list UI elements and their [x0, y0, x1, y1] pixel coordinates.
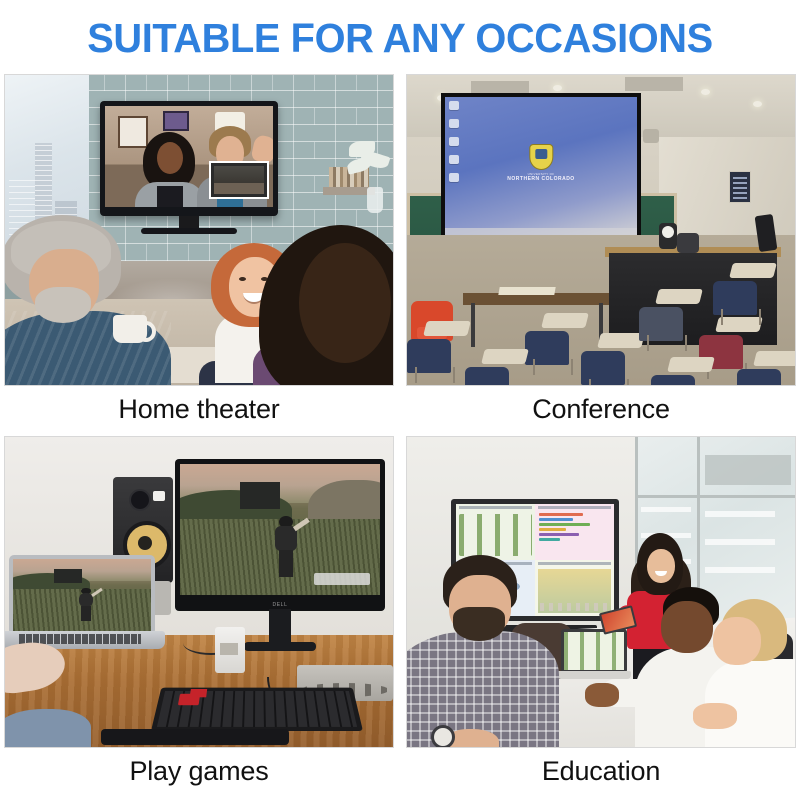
tv-screen [105, 106, 273, 207]
gaming-desk-scene: DELL [5, 437, 393, 747]
photo-play-games: DELL [4, 436, 394, 748]
ceiling-light [701, 89, 710, 95]
student-desk [713, 263, 783, 325]
desk-top [667, 357, 715, 372]
desk-top [753, 351, 795, 366]
desktop-icon [449, 137, 459, 146]
attendee-far-right [711, 599, 795, 747]
laptop-lid [561, 629, 627, 673]
mother [239, 225, 394, 386]
desktop-icon [449, 101, 459, 110]
marketing-collage: SUITABLE FOR ANY OCCASIONS [0, 0, 800, 800]
scene-card-play-games[interactable]: DELL [4, 436, 394, 794]
figure-chart [459, 514, 532, 556]
game-building [54, 569, 82, 583]
wasd-keys [178, 694, 200, 705]
caption-conference: Conference [406, 386, 796, 432]
av-equipment [659, 223, 677, 249]
caption-home-theater: Home theater [4, 386, 394, 432]
wall-speaker [643, 129, 659, 143]
father [4, 215, 175, 386]
photo-home-theater [4, 74, 394, 386]
game-screen [180, 464, 380, 595]
desktop-icon [449, 155, 459, 164]
game-character [76, 588, 95, 621]
desk-legs [647, 335, 687, 351]
desk-seat [651, 375, 695, 385]
mechanical-keyboard [151, 688, 363, 731]
game-building [240, 482, 280, 508]
infographic-panel-figures [456, 504, 535, 560]
av-equipment [677, 233, 699, 253]
scene-card-education[interactable]: Education [406, 436, 796, 794]
leaf-icon [346, 156, 372, 174]
hand [585, 683, 619, 707]
desktop-icons [449, 101, 463, 191]
panel-title [538, 506, 611, 509]
vase [367, 187, 383, 213]
character-body [275, 526, 296, 551]
picture-in-picture [209, 161, 269, 199]
desk-legs [589, 379, 629, 385]
ceiling-light [753, 101, 762, 107]
face [661, 601, 713, 653]
projected-desktop: UNIVERSITY OF NORTHERN COLORADO [445, 97, 637, 235]
monitor-stand [269, 609, 291, 645]
photo-conference: UNIVERSITY OF NORTHERN COLORADO [406, 74, 796, 386]
monitor-brand-logo: DELL [273, 602, 288, 608]
crest-icon [529, 144, 553, 170]
hand [693, 703, 737, 729]
lecture-room: UNIVERSITY OF NORTHERN COLORADO [407, 75, 795, 385]
attendee-foreground [407, 555, 553, 747]
bar [539, 533, 579, 536]
laptop-lid [9, 555, 155, 635]
projection-screen: UNIVERSITY OF NORTHERN COLORADO [441, 93, 641, 239]
papers [498, 287, 555, 295]
laptop-on-table [557, 629, 631, 683]
character-legs [279, 550, 294, 577]
university-logo: UNIVERSITY OF NORTHERN COLORADO [507, 144, 574, 182]
ceiling-light [553, 85, 562, 91]
window-blind [705, 455, 791, 485]
game-character [272, 516, 300, 576]
page-title: SUITABLE FOR ANY OCCASIONS [12, 14, 788, 62]
frosted-band [705, 567, 775, 573]
tweeter [129, 489, 151, 511]
beard [35, 287, 91, 323]
laptop-screen [564, 632, 624, 670]
game-hud [314, 573, 370, 585]
face [713, 617, 761, 665]
player-shoulder [5, 709, 91, 747]
desk-legs [533, 359, 573, 375]
beard [453, 607, 505, 641]
monitor-base [244, 642, 316, 651]
desk-legs [721, 309, 761, 325]
bar-chart [539, 513, 610, 556]
student-desk [737, 351, 795, 385]
desk-top [541, 313, 589, 328]
frosted-band [705, 539, 775, 545]
bar [539, 528, 566, 531]
student-desk [465, 349, 535, 385]
scene-grid: Home theater [4, 74, 796, 794]
bar [539, 523, 590, 526]
caption-play-games: Play games [4, 748, 394, 794]
laptop-screen [13, 559, 151, 631]
character-legs [81, 606, 91, 621]
frosted-band [705, 511, 775, 517]
bar [539, 538, 560, 541]
caption-education: Education [406, 748, 796, 794]
desk-legs [415, 367, 455, 383]
wall-picture [163, 111, 189, 131]
desk-top [481, 349, 529, 364]
photo-education [406, 436, 796, 748]
frosted-band [641, 507, 691, 512]
coffee-mug [113, 315, 147, 343]
hair-highlight [299, 243, 391, 363]
glass-frame [635, 495, 795, 498]
face [647, 549, 675, 583]
wall-poster [729, 171, 751, 203]
bar [539, 518, 573, 521]
student-desk [651, 357, 721, 385]
desk-seat [737, 369, 781, 385]
logo-line-2: NORTHERN COLORADO [507, 176, 574, 182]
desk-top [729, 263, 777, 278]
flat-screen-tv [100, 101, 278, 216]
face [157, 142, 183, 174]
external-hard-drive [215, 627, 245, 673]
wristwatch [431, 725, 455, 747]
laptop-base [557, 671, 631, 679]
scene-card-home-theater[interactable]: Home theater [4, 74, 394, 432]
external-monitor: DELL [175, 459, 385, 611]
ceiling-tile [625, 77, 683, 91]
top [157, 186, 183, 207]
desktop-icon [449, 173, 459, 182]
desk-top [655, 289, 703, 304]
desk-top [597, 333, 645, 348]
bar [539, 513, 583, 516]
desk-top [423, 321, 471, 336]
scene-card-conference[interactable]: UNIVERSITY OF NORTHERN COLORADO [406, 74, 796, 432]
desktop-icon [449, 119, 459, 128]
taskbar [445, 228, 637, 235]
infographic-panel-bars [535, 504, 614, 560]
wrist-rest [101, 729, 289, 745]
speaker-port [153, 491, 165, 501]
desk-seat [465, 367, 509, 385]
meeting-room [407, 437, 795, 747]
panel-title [459, 506, 532, 509]
wall-picture [118, 116, 148, 148]
